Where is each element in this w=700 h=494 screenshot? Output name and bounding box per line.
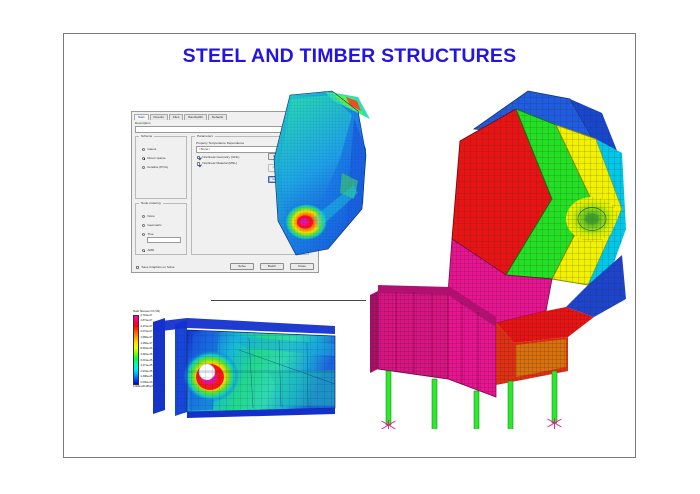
page-title: STEEL AND TIMBER STRUCTURES <box>64 45 635 68</box>
checkbox-label: Nonlinear Material (MNL) <box>202 162 237 165</box>
solve-button[interactable]: Solve <box>230 263 254 270</box>
radio-icon <box>142 148 145 151</box>
radio-icon-selected <box>142 157 145 160</box>
radio-order-tree[interactable]: Tree <box>142 233 183 236</box>
radio-label: Iterative (PCG) <box>147 166 168 169</box>
dialog-footer: Solve Batch Close <box>132 263 318 270</box>
radio-order-amd[interactable]: AMD <box>142 249 183 252</box>
radio-scheme-direct-sparse[interactable]: Direct sparse <box>142 157 183 160</box>
checkbox-icon-checked <box>197 156 200 159</box>
node-ordering-group-label: Node ordering <box>139 202 163 205</box>
radio-icon <box>142 215 145 218</box>
legend-color-bar <box>133 315 139 385</box>
checkbox-label: Nonlinear Geometry (GNL) <box>202 156 239 159</box>
constraint-symbols <box>382 418 562 429</box>
radio-icon <box>142 224 145 227</box>
radio-order-geometric[interactable]: Geometric <box>142 224 183 227</box>
scheme-group-label: Scheme <box>139 135 154 138</box>
portal-frame-svg <box>356 79 626 429</box>
radio-label: Geometric <box>147 224 161 227</box>
radio-scheme-iterative-pcg[interactable]: Iterative (PCG) <box>142 166 183 169</box>
property-temp-value: <None> <box>199 148 210 151</box>
perforated-beam-fe-model <box>149 314 339 419</box>
parameters-group-label: Parameters <box>195 135 215 138</box>
dialog-left-column: Scheme Gauss Direct sparse Iterative (PC… <box>135 136 187 255</box>
section-divider <box>211 300 366 301</box>
slide-frame: STEEL AND TIMBER STRUCTURES Start Result… <box>63 33 636 458</box>
tree-depth-input[interactable] <box>147 237 181 243</box>
node-ordering-group: Node ordering None Geometric Tree <box>135 203 187 255</box>
radio-label: Tree <box>147 233 153 236</box>
checkbox-icon-checked <box>197 162 200 165</box>
portal-frame-fe-model <box>356 79 626 429</box>
radio-icon <box>142 233 145 236</box>
radio-icon-selected <box>142 249 145 252</box>
radio-order-none[interactable]: None <box>142 215 183 218</box>
radio-icon <box>142 166 145 169</box>
radio-label: Direct sparse <box>147 157 165 160</box>
radio-label: AMD <box>147 249 154 252</box>
perforated-beam-svg <box>149 314 339 419</box>
radio-scheme-gauss[interactable]: Gauss <box>142 148 183 151</box>
property-temp-label: Property Temperature Dependence <box>196 141 244 145</box>
close-button[interactable]: Close <box>290 263 314 270</box>
radio-label: None <box>147 215 154 218</box>
scheme-group: Scheme Gauss Direct sparse Iterative (PC… <box>135 136 187 199</box>
batch-button[interactable]: Batch <box>260 263 284 270</box>
radio-label: Gauss <box>147 148 156 151</box>
